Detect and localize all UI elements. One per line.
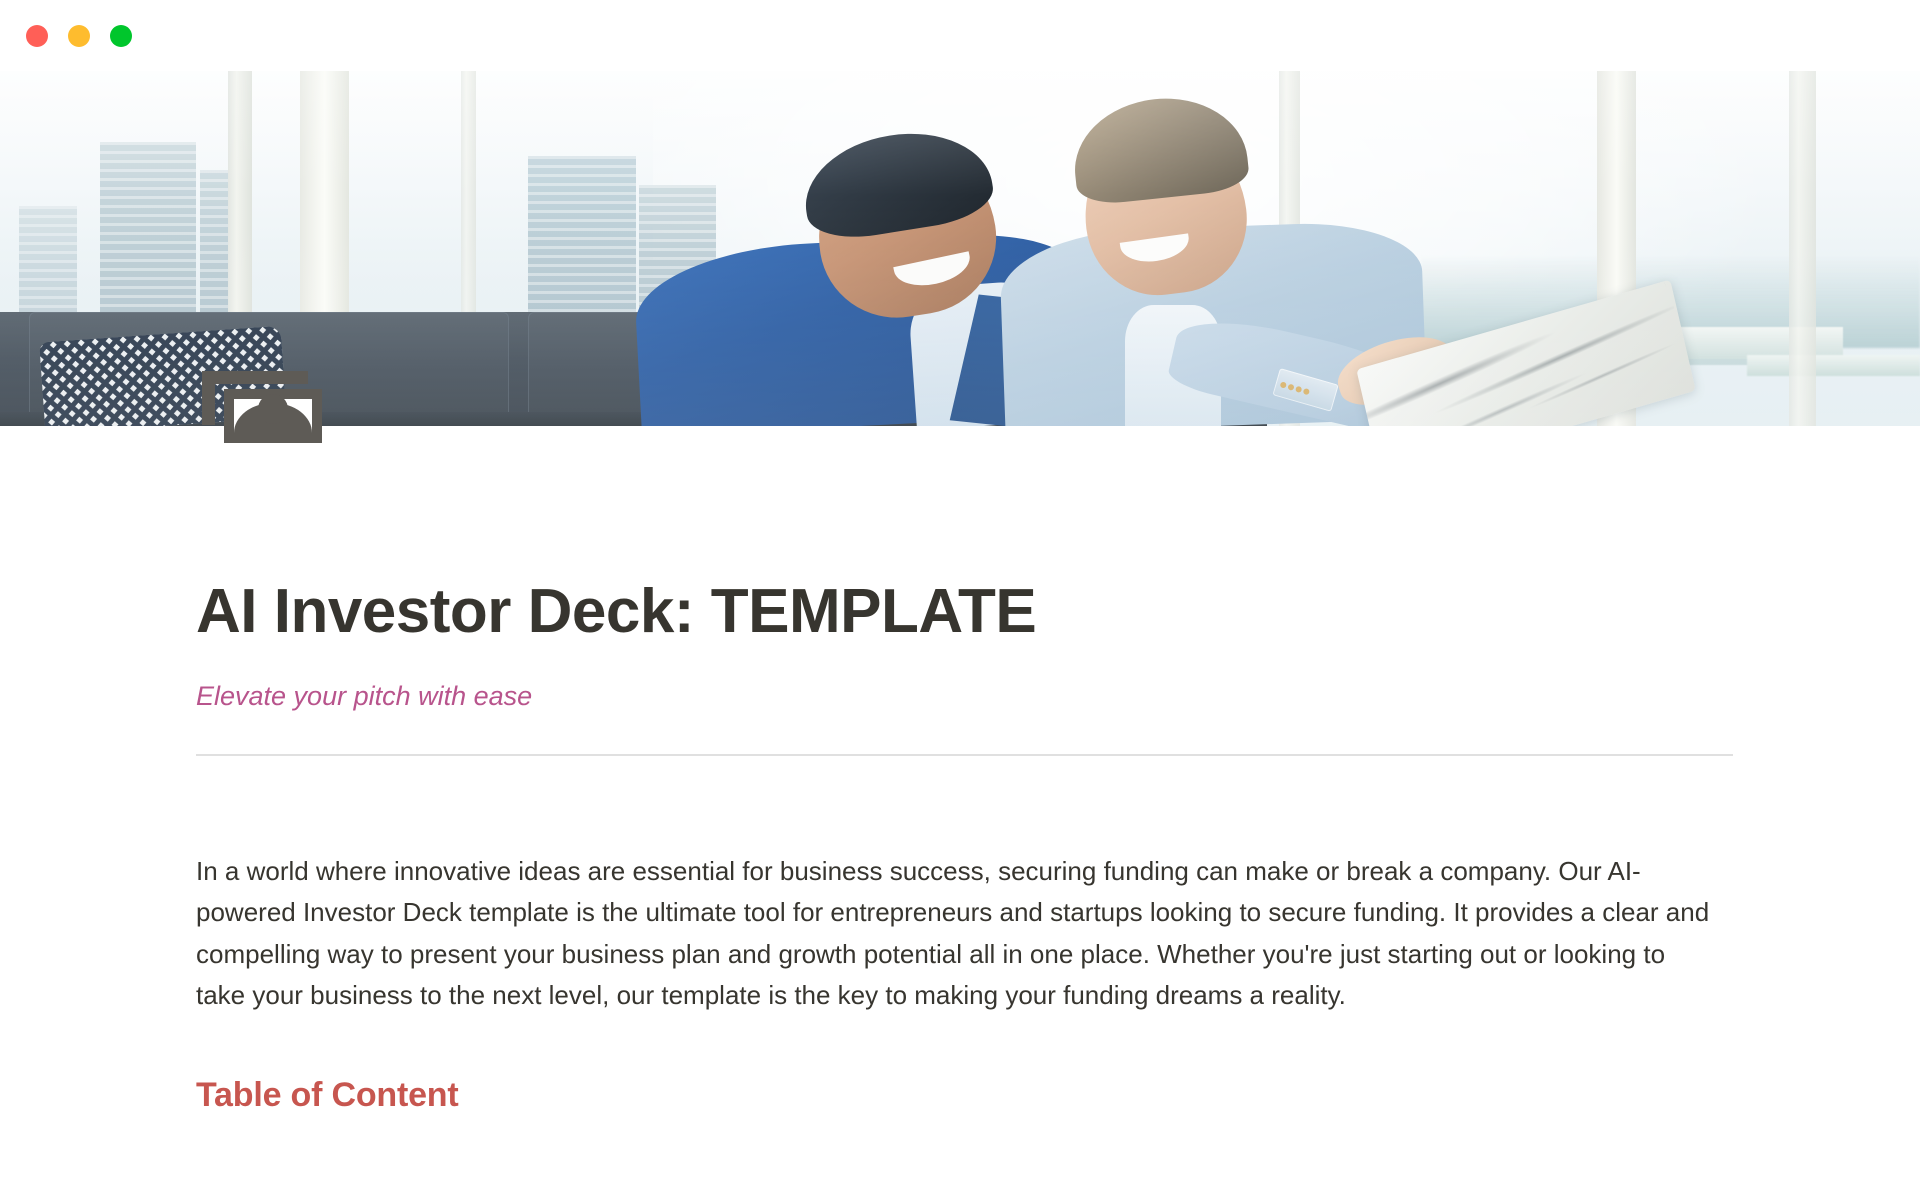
maximize-window-button[interactable] (110, 25, 132, 47)
document-body: AI Investor Deck: TEMPLATE Elevate your … (0, 426, 1920, 1115)
minimize-window-button[interactable] (68, 25, 90, 47)
horizontal-divider (196, 754, 1733, 756)
money-banknote-icon[interactable] (198, 367, 326, 445)
traffic-light-group (26, 25, 132, 47)
page-title[interactable]: AI Investor Deck: TEMPLATE (196, 576, 1736, 647)
window-titlebar (0, 0, 1920, 71)
table-of-content-heading[interactable]: Table of Content (196, 1076, 1736, 1115)
intro-paragraph[interactable]: In a world where innovative ideas are es… (196, 851, 1716, 1015)
close-window-button[interactable] (26, 25, 48, 47)
page-subtitle[interactable]: Elevate your pitch with ease (196, 679, 1736, 714)
content-column: AI Investor Deck: TEMPLATE Elevate your … (196, 576, 1736, 1115)
